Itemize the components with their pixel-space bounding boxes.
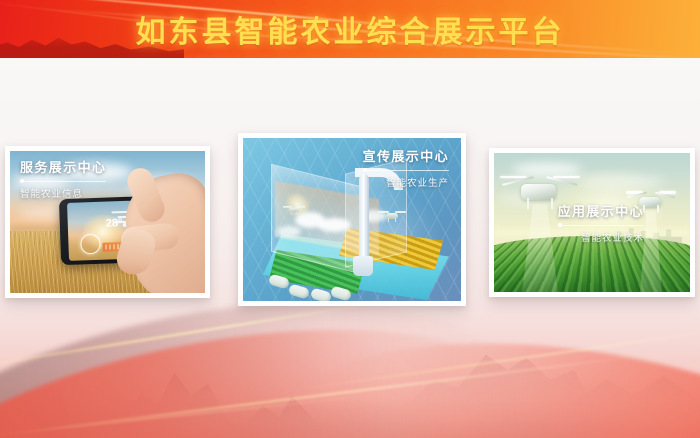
drone-icon	[284, 205, 305, 215]
drone-icon	[379, 210, 405, 222]
scene-isometric-smart-farm: 宣传展示中心 智能农业生产	[243, 138, 461, 301]
card-service-subtitle: 智能农业信息	[20, 186, 106, 200]
iso-bucket	[353, 256, 373, 276]
card-application-title: 应用展示中心	[558, 205, 644, 220]
scene-crop-field-drones: 应用展示中心 智能农业技术	[494, 153, 690, 292]
drone-leg	[395, 218, 396, 222]
drone-leg	[657, 205, 659, 212]
card-application-image: 应用展示中心 智能农业技术	[494, 153, 690, 292]
card-application-subtitle: 智能农业技术	[558, 230, 644, 244]
caption-divider	[558, 225, 644, 226]
card-application-caption: 应用展示中心 智能农业技术	[558, 205, 644, 244]
drone-leg	[291, 212, 292, 215]
hud-gauge-ring	[80, 234, 101, 255]
caption-divider	[363, 170, 449, 171]
scene-wheat-field-phone: 28° 服务	[10, 151, 205, 293]
card-publicity-subtitle: 智能农业生产	[363, 175, 449, 189]
card-application-display-center[interactable]: 应用展示中心 智能农业技术	[489, 148, 695, 297]
card-publicity-title: 宣传展示中心	[363, 150, 449, 165]
card-publicity-image: 宣传展示中心 智能农业生产	[243, 138, 461, 301]
drone-leg	[527, 198, 529, 209]
drone-rotor	[395, 211, 406, 213]
drone-leg	[296, 212, 297, 215]
drone-leg	[388, 218, 389, 222]
card-service-display-center[interactable]: 28° 服务	[5, 146, 210, 298]
card-publicity-display-center[interactable]: 宣传展示中心 智能农业生产	[238, 133, 466, 306]
header-banner: 如东县智能农业综合展示平台	[0, 0, 700, 58]
platform-home-screen: 如东县智能农业综合展示平台 28°	[0, 0, 700, 438]
card-service-caption: 服务展示中心 智能农业信息	[20, 161, 106, 200]
card-publicity-caption: 宣传展示中心 智能农业生产	[363, 150, 449, 189]
hud-temperature-value: 28°	[106, 217, 123, 230]
page-title: 如东县智能农业综合展示平台	[0, 7, 700, 51]
card-service-title: 服务展示中心	[20, 161, 106, 176]
card-service-image: 28° 服务	[10, 151, 205, 293]
drone-leg	[551, 198, 553, 209]
caption-divider	[20, 181, 106, 182]
